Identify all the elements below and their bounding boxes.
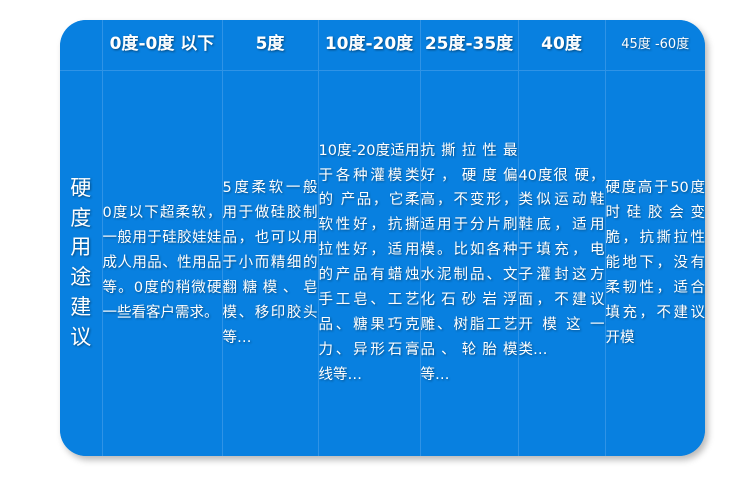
header-cell-blank xyxy=(60,20,102,70)
header-cell-range-40: 40度 xyxy=(518,20,605,70)
cell-usage-range-5-text: 5度柔软一般用于做硅胶制品，也可以用于小而精细的翻糖模、皂模、移印胶头等… xyxy=(223,176,318,351)
cell-usage-range-10-20: 10度-20度适用于各种灌模类的 产品，它柔软性好，抗撕拉性好，适用的产品有蜡烛… xyxy=(318,70,420,456)
row-label-hardness-usage: 硬度用途建议 xyxy=(60,70,102,456)
header-cell-range-10-20: 10度-20度 xyxy=(318,20,420,70)
cell-usage-range-40-text: 40度很 硬，类似运动鞋鞋底，适用于填充，电子灌封这方面，不建议开模这一类… xyxy=(519,164,605,364)
header-cell-range-25-35: 25度-35度 xyxy=(420,20,518,70)
header-cell-range-0: 0度-0度 以下 xyxy=(102,20,222,70)
cell-usage-range-45-60: 硬度高于50度时硅胶会变脆，抗撕拉性能地下，没有柔韧性，适合填充，不建议开模 xyxy=(605,70,705,456)
hardness-usage-table: 0度-0度 以下 5度 10度-20度 25度-35度 40度 45度 -60度… xyxy=(60,20,705,456)
table-row: 硬度用途建议 0度以下超柔软，一般用于硅胶娃娃成人用品、性用品等。0度的稍微硬一… xyxy=(60,70,705,456)
cell-usage-range-10-20-text: 10度-20度适用于各种灌模类的 产品，它柔软性好，抗撕拉性好，适用的产品有蜡烛… xyxy=(319,139,420,388)
table-header-row: 0度-0度 以下 5度 10度-20度 25度-35度 40度 45度 -60度 xyxy=(60,20,705,70)
hardness-table-container: 0度-0度 以下 5度 10度-20度 25度-35度 40度 45度 -60度… xyxy=(60,20,705,456)
cell-usage-range-40: 40度很 硬，类似运动鞋鞋底，适用于填充，电子灌封这方面，不建议开模这一类… xyxy=(518,70,605,456)
header-cell-range-5: 5度 xyxy=(222,20,318,70)
cell-usage-range-0-text: 0度以下超柔软，一般用于硅胶娃娃成人用品、性用品等。0度的稍微硬一些看客户需求。 xyxy=(103,201,222,326)
header-cell-range-45-60: 45度 -60度 xyxy=(605,20,705,70)
cell-usage-range-25-35-text: 抗撕拉性最好，硬度偏高，不变形，适用于分片刷模。比如各种水泥制品、文化石砂岩浮雕… xyxy=(421,139,518,388)
cell-usage-range-45-60-text: 硬度高于50度时硅胶会变脆，抗撕拉性能地下，没有柔韧性，适合填充，不建议开模 xyxy=(606,176,706,351)
row-label-text: 硬度用途建议 xyxy=(69,174,93,353)
cell-usage-range-5: 5度柔软一般用于做硅胶制品，也可以用于小而精细的翻糖模、皂模、移印胶头等… xyxy=(222,70,318,456)
cell-usage-range-0: 0度以下超柔软，一般用于硅胶娃娃成人用品、性用品等。0度的稍微硬一些看客户需求。 xyxy=(102,70,222,456)
cell-usage-range-25-35: 抗撕拉性最好，硬度偏高，不变形，适用于分片刷模。比如各种水泥制品、文化石砂岩浮雕… xyxy=(420,70,518,456)
